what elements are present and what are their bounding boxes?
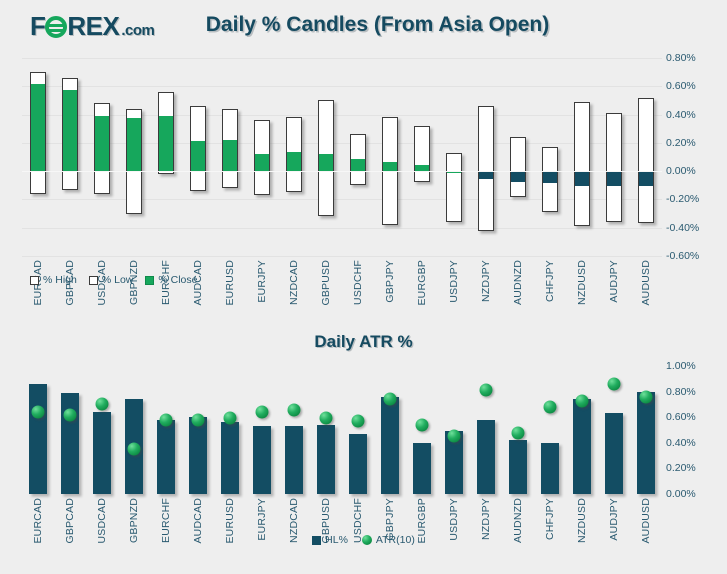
legend-label: ATR(10) — [376, 534, 415, 546]
candles-x-tick-label[interactable]: EURJPY — [256, 260, 268, 303]
legend-item[interactable]: % High — [30, 274, 77, 286]
candle-column[interactable] — [598, 58, 630, 256]
atr-10-marker[interactable] — [608, 377, 621, 390]
candle-column[interactable] — [630, 58, 662, 256]
candle-bar[interactable] — [414, 126, 431, 183]
atr-hl-bar[interactable] — [413, 443, 431, 494]
candle-body-positive — [255, 154, 270, 172]
candle-body-positive — [191, 141, 206, 172]
candle-bar[interactable] — [222, 109, 239, 188]
candle-body-positive — [223, 140, 238, 173]
candles-x-tick-label[interactable]: USDCHF — [352, 260, 364, 305]
legend-item[interactable]: % Low — [89, 274, 134, 286]
candle-bar[interactable] — [478, 106, 495, 230]
candle-body-negative — [511, 172, 526, 182]
candle-column[interactable] — [182, 58, 214, 256]
atr-hl-bar[interactable] — [477, 420, 495, 494]
atr-10-marker[interactable] — [416, 418, 429, 431]
candles-x-tick-label[interactable]: USDJPY — [448, 260, 460, 303]
candles-y-tick-label: 0.60% — [666, 80, 724, 92]
candles-y-tick-label: 0.80% — [666, 52, 724, 64]
atr-10-marker[interactable] — [352, 415, 365, 428]
candles-x-axis: EURCADGBPCADUSDCADGBPNZDEURCHFAUDCADEURU… — [22, 260, 662, 326]
candle-bar[interactable] — [286, 117, 303, 192]
atr-hl-bar[interactable] — [253, 426, 271, 494]
candles-y-tick-label: -0.20% — [666, 193, 724, 205]
legend-swatch-open-icon — [30, 276, 39, 285]
atr-hl-bar[interactable] — [189, 417, 207, 494]
candles-gridline — [22, 256, 662, 257]
candles-y-axis: 0.80%0.60%0.40%0.20%0.00%-0.20%-0.40%-0.… — [666, 58, 724, 256]
candle-body-positive — [95, 116, 110, 173]
candle-body-negative — [607, 172, 622, 186]
legend-label: % Close — [158, 274, 197, 286]
atr-hl-bar[interactable] — [605, 413, 623, 494]
atr-y-tick-label: 0.20% — [666, 462, 724, 474]
atr-10-marker[interactable] — [544, 400, 557, 413]
candle-body-positive — [31, 84, 46, 172]
candle-bar[interactable] — [446, 153, 463, 222]
atr-hl-bar[interactable] — [637, 392, 655, 494]
atr-hl-bar[interactable] — [381, 397, 399, 494]
candle-body-negative — [639, 172, 654, 186]
legend-swatch-close-icon — [145, 276, 154, 285]
legend-item[interactable]: % Close — [145, 274, 197, 286]
candle-column[interactable] — [22, 58, 54, 256]
atr-10-marker[interactable] — [96, 398, 109, 411]
candles-x-tick-label[interactable]: CHFJPY — [544, 260, 556, 302]
atr-x-axis: EURCADGBPCADUSDCADGBPNZDEURCHFAUDCADEURU… — [22, 498, 662, 564]
candle-bar[interactable] — [542, 147, 559, 212]
atr-y-tick-label: 0.80% — [666, 386, 724, 398]
candles-y-tick-label: 0.40% — [666, 109, 724, 121]
candles-y-tick-label: 0.20% — [666, 137, 724, 149]
candle-column[interactable] — [278, 58, 310, 256]
legend-item[interactable]: ATR(10) — [362, 534, 415, 546]
candle-column[interactable] — [310, 58, 342, 256]
candle-bar[interactable] — [30, 72, 47, 194]
candle-body-positive — [319, 154, 334, 172]
atr-plot-area — [22, 366, 662, 494]
candle-bar[interactable] — [318, 100, 335, 216]
candle-column[interactable] — [342, 58, 374, 256]
atr-10-marker[interactable] — [320, 412, 333, 425]
legend-swatch-atr-icon — [362, 535, 372, 545]
atr-10-marker[interactable] — [192, 413, 205, 426]
atr-y-tick-label: 1.00% — [666, 360, 724, 372]
atr-hl-bar[interactable] — [541, 443, 559, 494]
candle-body-positive — [447, 172, 462, 173]
atr-10-marker[interactable] — [128, 443, 141, 456]
atr-hl-bar[interactable] — [157, 420, 175, 494]
candle-body-positive — [63, 90, 78, 172]
candles-y-tick-label: 0.00% — [666, 165, 724, 177]
candles-x-tick-label[interactable]: AUDNZD — [512, 260, 524, 305]
candle-bar[interactable] — [126, 109, 143, 214]
candles-chart-title: Daily % Candles (From Asia Open) — [0, 13, 727, 37]
daily-percent-candles-chart: 0.80%0.60%0.40%0.20%0.00%-0.20%-0.40%-0.… — [0, 46, 727, 328]
candle-column[interactable] — [534, 58, 566, 256]
candle-body-positive — [127, 118, 142, 172]
candles-x-tick-label[interactable]: NZDUSD — [576, 260, 588, 305]
legend-label: HL% — [325, 534, 348, 546]
daily-atr-percent-chart: Daily ATR % 1.00%0.80%0.60%0.40%0.20%0.0… — [0, 328, 727, 574]
candle-bar[interactable] — [350, 134, 367, 185]
atr-hl-bar[interactable] — [221, 422, 239, 494]
candle-bar[interactable] — [62, 78, 79, 190]
atr-10-marker[interactable] — [64, 408, 77, 421]
candle-body-negative — [543, 172, 558, 183]
candles-x-tick-label[interactable]: NZDJPY — [480, 260, 492, 302]
candle-column[interactable] — [406, 58, 438, 256]
candle-bar[interactable] — [254, 120, 271, 195]
legend-swatch-hl-icon — [312, 536, 321, 545]
candles-y-tick-label: -0.60% — [666, 250, 724, 262]
candle-bar[interactable] — [94, 103, 111, 194]
candles-x-tick-label[interactable]: AUDJPY — [608, 260, 620, 303]
atr-hl-bar[interactable] — [285, 426, 303, 494]
atr-hl-bar[interactable] — [573, 399, 591, 494]
atr-10-marker[interactable] — [160, 413, 173, 426]
atr-y-axis: 1.00%0.80%0.60%0.40%0.20%0.00% — [666, 366, 724, 494]
legend-item[interactable]: HL% — [312, 534, 348, 546]
atr-hl-bar[interactable] — [317, 425, 335, 494]
candle-column[interactable] — [150, 58, 182, 256]
candles-x-tick-label[interactable]: NZDCAD — [288, 260, 300, 305]
candle-bar[interactable] — [510, 137, 527, 196]
atr-y-tick-label: 0.60% — [666, 411, 724, 423]
candle-column[interactable] — [502, 58, 534, 256]
candle-column[interactable] — [566, 58, 598, 256]
atr-y-tick-label: 0.00% — [666, 488, 724, 500]
candle-body-positive — [287, 152, 302, 172]
candle-column[interactable] — [470, 58, 502, 256]
atr-10-marker[interactable] — [480, 384, 493, 397]
candle-body-negative — [479, 172, 494, 179]
atr-hl-bar[interactable] — [509, 440, 527, 494]
candle-column[interactable] — [438, 58, 470, 256]
atr-10-marker[interactable] — [256, 406, 269, 419]
candle-bar[interactable] — [638, 98, 655, 224]
atr-hl-bar[interactable] — [29, 384, 47, 494]
candle-bar[interactable] — [574, 102, 591, 226]
candles-plot-area — [22, 58, 662, 256]
atr-10-marker[interactable] — [288, 403, 301, 416]
candle-bar[interactable] — [190, 106, 207, 191]
candles-x-tick-label[interactable]: EURGBP — [416, 260, 428, 306]
candles-y-tick-label: -0.40% — [666, 222, 724, 234]
candles-x-tick-label[interactable]: AUDUSD — [640, 260, 652, 306]
atr-y-tick-label: 0.40% — [666, 437, 724, 449]
candle-bar[interactable] — [158, 92, 175, 174]
candles-zero-line — [22, 171, 662, 172]
candle-column[interactable] — [86, 58, 118, 256]
candle-body-negative — [575, 172, 590, 186]
legend-label: % High — [43, 274, 77, 286]
candle-column[interactable] — [214, 58, 246, 256]
atr-hl-bar[interactable] — [93, 412, 111, 494]
candles-legend: % High% Low% Close — [30, 274, 197, 286]
atr-10-marker[interactable] — [640, 390, 653, 403]
candles-x-tick-label[interactable]: GBPJPY — [384, 260, 396, 303]
atr-10-marker[interactable] — [448, 430, 461, 443]
atr-legend: HL%ATR(10) — [0, 534, 727, 546]
candle-column[interactable] — [118, 58, 150, 256]
atr-10-marker[interactable] — [384, 393, 397, 406]
atr-10-marker[interactable] — [224, 412, 237, 425]
candle-body-positive — [159, 116, 174, 173]
candle-column[interactable] — [246, 58, 278, 256]
candle-column[interactable] — [374, 58, 406, 256]
candles-x-tick-label[interactable]: EURUSD — [224, 260, 236, 306]
page-header: F REX .com Daily % Candles (From Asia Op… — [0, 0, 727, 46]
legend-swatch-open-icon — [89, 276, 98, 285]
atr-10-marker[interactable] — [32, 406, 45, 419]
candles-x-tick-label[interactable]: GBPUSD — [320, 260, 332, 306]
legend-label: % Low — [102, 274, 134, 286]
atr-10-marker[interactable] — [512, 426, 525, 439]
atr-chart-title: Daily ATR % — [0, 332, 727, 352]
candle-column[interactable] — [54, 58, 86, 256]
atr-10-marker[interactable] — [576, 394, 589, 407]
candle-bar[interactable] — [606, 113, 623, 222]
atr-hl-bar[interactable] — [349, 434, 367, 494]
